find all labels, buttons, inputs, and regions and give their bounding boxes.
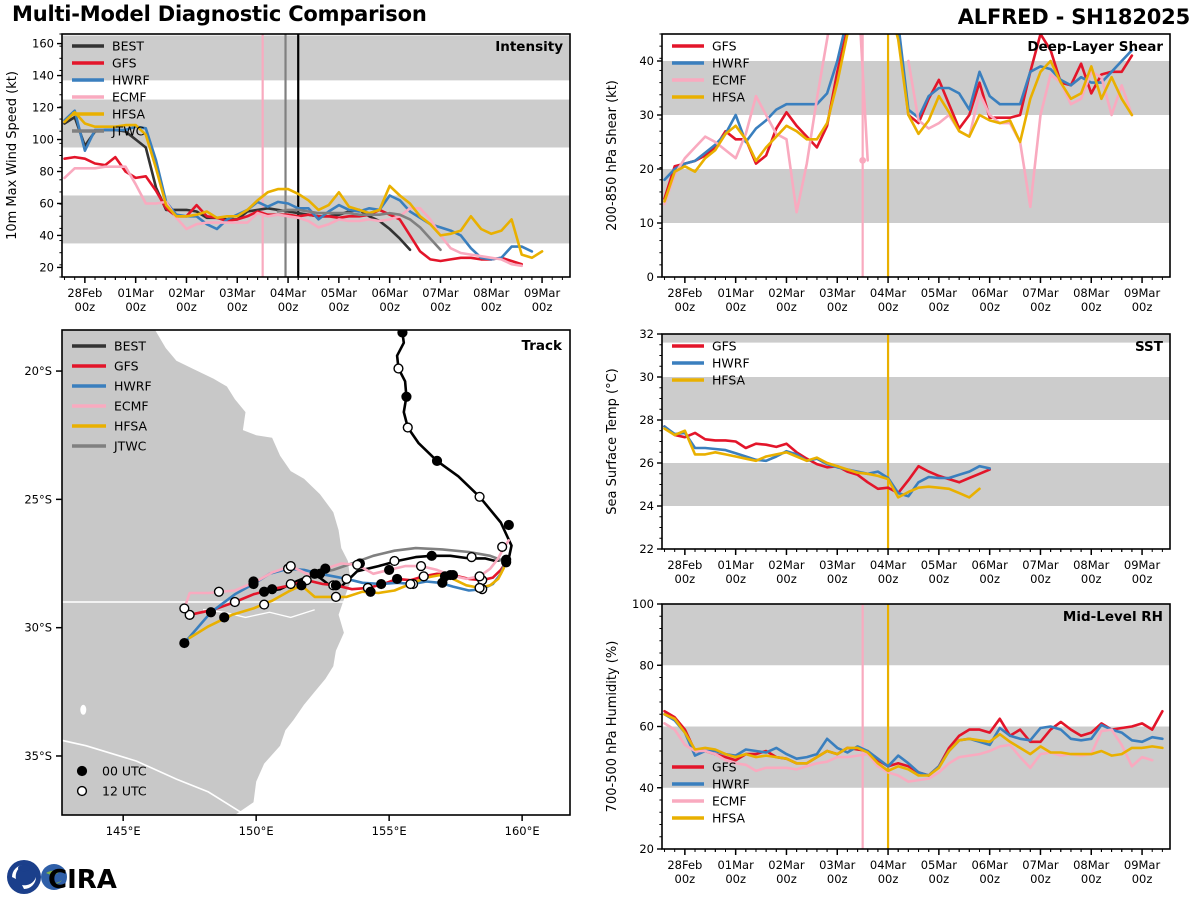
y-tick-label: 30 xyxy=(639,370,654,384)
x-tick-label: 07Mar xyxy=(422,286,459,300)
cira-wordmark: CIRA xyxy=(41,864,117,895)
lon-axis: 145°E150°E155°E160°E xyxy=(106,815,540,838)
x-tick-label: 07Mar xyxy=(1022,858,1059,872)
legend-label-ECMF: ECMF xyxy=(112,90,147,105)
track-marker-00utc xyxy=(332,581,341,590)
x-tick-sublabel: 00z xyxy=(176,300,197,314)
band xyxy=(662,334,1170,343)
x-tick-sublabel: 00z xyxy=(1132,572,1153,586)
x-tick-sublabel: 00z xyxy=(125,300,146,314)
x-axis: 28Feb00z01Mar00z02Mar00z03Mar00z04Mar00z… xyxy=(65,277,563,314)
x-tick-label: 28Feb xyxy=(667,558,702,572)
y-tick-label: 120 xyxy=(32,101,54,115)
x-tick-sublabel: 00z xyxy=(1081,872,1102,886)
x-tick-label: 06Mar xyxy=(971,286,1008,300)
track-marker-00utc xyxy=(393,575,402,584)
x-tick-sublabel: 00z xyxy=(776,300,797,314)
y-axis: 20406080100 xyxy=(632,597,662,856)
y-tick-label: 100 xyxy=(32,133,54,147)
y-tick-label: 100 xyxy=(632,597,654,611)
track-marker-12utc xyxy=(286,562,295,571)
legend-label-HFSA: HFSA xyxy=(712,373,746,388)
x-tick-sublabel: 00z xyxy=(75,300,96,314)
x-tick-sublabel: 00z xyxy=(827,872,848,886)
x-tick-label: 04Mar xyxy=(270,286,307,300)
x-tick-sublabel: 00z xyxy=(1081,300,1102,314)
x-tick-label: 03Mar xyxy=(219,286,256,300)
y-axis: 20406080100120140160 xyxy=(32,34,62,277)
y-axis-label: Sea Surface Temp (°C) xyxy=(605,368,620,515)
y-tick-label: 10 xyxy=(639,216,654,230)
lon-tick-label: 155°E xyxy=(372,824,407,838)
x-axis: 28Feb00z01Mar00z02Mar00z03Mar00z04Mar00z… xyxy=(665,549,1163,586)
legend-label-HWRF: HWRF xyxy=(712,356,750,371)
y-tick-label: 60 xyxy=(39,196,54,210)
x-tick-sublabel: 00z xyxy=(1030,300,1051,314)
track-marker-00utc xyxy=(207,608,216,617)
x-tick-label: 02Mar xyxy=(768,558,805,572)
x-tick-label: 09Mar xyxy=(524,286,561,300)
track-marker-00utc xyxy=(441,572,450,581)
track-marker-12utc xyxy=(286,580,295,589)
track-marker-12utc xyxy=(419,572,428,581)
legend-marker-open xyxy=(78,787,87,796)
y-tick-label: 0 xyxy=(647,270,654,284)
cira-noaa-logo: CIRA xyxy=(4,855,154,900)
track-marker-00utc xyxy=(297,581,306,590)
lon-tick-label: 145°E xyxy=(106,824,141,838)
x-tick-label: 01Mar xyxy=(117,286,154,300)
chart-track: 20°S25°S30°S35°S145°E150°E155°E160°ETrac… xyxy=(0,326,600,866)
track-marker-12utc xyxy=(353,560,362,569)
track-marker-00utc xyxy=(377,580,386,589)
x-tick-sublabel: 00z xyxy=(827,572,848,586)
track-marker-00utc xyxy=(402,392,411,401)
legend-label-BEST: BEST xyxy=(112,39,144,54)
legend-label-HWRF: HWRF xyxy=(712,777,750,792)
y-tick-label: 60 xyxy=(639,720,654,734)
cira-text: CIRA xyxy=(48,865,117,895)
lat-tick-label: 35°S xyxy=(24,749,52,763)
track-marker-12utc xyxy=(475,583,484,592)
x-tick-sublabel: 00z xyxy=(1030,872,1051,886)
x-tick-sublabel: 00z xyxy=(1132,872,1153,886)
panel-tag-intensity: Intensity xyxy=(495,39,563,55)
panel-track: 20°S25°S30°S35°S145°E150°E155°E160°ETrac… xyxy=(0,326,600,866)
legend-label-GFS: GFS xyxy=(712,39,737,54)
legend-label-HFSA: HFSA xyxy=(114,419,148,434)
track-marker-12utc xyxy=(475,492,484,501)
x-tick-label: 01Mar xyxy=(717,558,754,572)
lat-axis: 20°S25°S30°S35°S xyxy=(24,364,62,763)
y-tick-label: 30 xyxy=(639,108,654,122)
legend-label-GFS: GFS xyxy=(114,359,139,374)
x-tick-label: 08Mar xyxy=(1073,558,1110,572)
x-tick-sublabel: 00z xyxy=(430,300,451,314)
x-tick-sublabel: 00z xyxy=(979,872,1000,886)
x-tick-label: 03Mar xyxy=(819,858,856,872)
track-marker-00utc xyxy=(180,639,189,648)
y-tick-label: 22 xyxy=(639,542,654,556)
track-marker-12utc xyxy=(467,553,476,562)
panel-shear: 01020304028Feb00z01Mar00z02Mar00z03Mar00… xyxy=(600,26,1200,326)
lat-tick-label: 20°S xyxy=(24,364,52,378)
x-tick-label: 06Mar xyxy=(971,858,1008,872)
x-tick-sublabel: 00z xyxy=(878,872,899,886)
x-tick-label: 03Mar xyxy=(819,558,856,572)
legend-label-HFSA: HFSA xyxy=(712,811,746,826)
legend-label-ECMF: ECMF xyxy=(712,73,747,88)
track-marker-00utc xyxy=(427,551,436,560)
legend-label-JTWC: JTWC xyxy=(113,439,147,454)
x-tick-sublabel: 00z xyxy=(675,872,696,886)
x-tick-sublabel: 00z xyxy=(827,300,848,314)
y-tick-label: 32 xyxy=(639,327,654,341)
x-tick-label: 05Mar xyxy=(921,286,958,300)
track-marker-00utc xyxy=(249,577,258,586)
y-tick-label: 160 xyxy=(32,37,54,51)
x-tick-sublabel: 00z xyxy=(675,300,696,314)
x-tick-label: 04Mar xyxy=(870,286,907,300)
chart-rh: 2040608010028Feb00z01Mar00z02Mar00z03Mar… xyxy=(600,596,1200,896)
track-marker-12utc xyxy=(406,580,415,589)
x-tick-label: 06Mar xyxy=(971,558,1008,572)
x-tick-sublabel: 00z xyxy=(979,572,1000,586)
track-marker-00utc xyxy=(502,558,511,567)
x-tick-label: 28Feb xyxy=(667,858,702,872)
x-tick-label: 05Mar xyxy=(921,858,958,872)
x-tick-label: 05Mar xyxy=(321,286,358,300)
track-marker-00utc xyxy=(366,587,375,596)
panel-tag-shear: Deep-Layer Shear xyxy=(1027,39,1163,55)
x-tick-sublabel: 00z xyxy=(929,300,950,314)
panel-tag-rh: Mid-Level RH xyxy=(1063,609,1163,625)
track-marker-12utc xyxy=(215,587,224,596)
track-marker-12utc xyxy=(260,600,269,609)
track-marker-00utc xyxy=(504,521,513,530)
legend-label-HFSA: HFSA xyxy=(112,107,146,122)
x-tick-label: 01Mar xyxy=(717,858,754,872)
legend-marker-label: 12 UTC xyxy=(102,784,147,799)
noaa-seagull-icon xyxy=(7,860,41,894)
x-axis: 28Feb00z01Mar00z02Mar00z03Mar00z04Mar00z… xyxy=(665,849,1163,886)
y-tick-label: 20 xyxy=(639,842,654,856)
x-tick-label: 08Mar xyxy=(1073,858,1110,872)
x-tick-sublabel: 00z xyxy=(725,300,746,314)
x-tick-label: 01Mar xyxy=(717,286,754,300)
band xyxy=(62,195,570,243)
x-tick-label: 04Mar xyxy=(870,858,907,872)
legend-label-HFSA: HFSA xyxy=(712,90,746,105)
panel-rh: 2040608010028Feb00z01Mar00z02Mar00z03Mar… xyxy=(600,596,1200,896)
x-tick-label: 04Mar xyxy=(870,558,907,572)
x-tick-sublabel: 00z xyxy=(776,572,797,586)
track-marker-12utc xyxy=(498,542,507,551)
y-tick-label: 40 xyxy=(39,228,54,242)
x-tick-sublabel: 00z xyxy=(1030,572,1051,586)
x-tick-sublabel: 00z xyxy=(979,300,1000,314)
y-axis-label: 10m Max Wind Speed (kt) xyxy=(5,71,20,240)
y-tick-label: 20 xyxy=(39,260,54,274)
track-marker-12utc xyxy=(342,575,351,584)
x-tick-label: 02Mar xyxy=(768,286,805,300)
x-tick-sublabel: 00z xyxy=(532,300,553,314)
lon-tick-label: 160°E xyxy=(505,824,540,838)
x-tick-sublabel: 00z xyxy=(878,572,899,586)
lake-outline xyxy=(80,705,86,715)
x-tick-sublabel: 00z xyxy=(776,872,797,886)
legend-label-GFS: GFS xyxy=(712,760,737,775)
legend-marker-filled xyxy=(78,767,87,776)
legend-label-ECMF: ECMF xyxy=(114,399,149,414)
y-tick-label: 80 xyxy=(639,658,654,672)
chart-intensity: 2040608010012014016028Feb00z01Mar00z02Ma… xyxy=(0,26,600,326)
x-tick-sublabel: 00z xyxy=(725,872,746,886)
legend-label-GFS: GFS xyxy=(112,56,137,71)
x-tick-label: 02Mar xyxy=(168,286,205,300)
y-axis-label: 200-850 hPa Shear (kt) xyxy=(605,80,620,231)
track-marker-12utc xyxy=(417,562,426,571)
x-tick-sublabel: 00z xyxy=(227,300,248,314)
x-tick-sublabel: 00z xyxy=(1132,300,1153,314)
track-marker-12utc xyxy=(403,423,412,432)
x-axis: 28Feb00z01Mar00z02Mar00z03Mar00z04Mar00z… xyxy=(665,277,1163,314)
track-marker-12utc xyxy=(394,364,403,373)
y-axis: 222426283032 xyxy=(639,327,662,556)
marker-ECMF-point xyxy=(859,157,866,164)
x-tick-label: 08Mar xyxy=(1073,286,1110,300)
track-marker-00utc xyxy=(385,566,394,575)
legend-label-JTWC: JTWC xyxy=(111,124,145,139)
panel-tag-sst: SST xyxy=(1135,339,1164,355)
x-tick-label: 07Mar xyxy=(1022,558,1059,572)
x-tick-label: 28Feb xyxy=(67,286,102,300)
x-tick-sublabel: 00z xyxy=(329,300,350,314)
band xyxy=(662,169,1170,223)
x-tick-label: 07Mar xyxy=(1022,286,1059,300)
legend-label-HWRF: HWRF xyxy=(114,379,152,394)
legend-label-HWRF: HWRF xyxy=(112,73,150,88)
x-tick-label: 09Mar xyxy=(1124,286,1161,300)
track-marker-12utc xyxy=(230,598,239,607)
x-tick-label: 05Mar xyxy=(921,558,958,572)
chart-shear: 01020304028Feb00z01Mar00z02Mar00z03Mar00… xyxy=(600,26,1200,326)
x-tick-sublabel: 00z xyxy=(481,300,502,314)
legend-label-HWRF: HWRF xyxy=(712,56,750,71)
panel-sst: 22242628303228Feb00z01Mar00z02Mar00z03Ma… xyxy=(600,326,1200,596)
chart-sst: 22242628303228Feb00z01Mar00z02Mar00z03Ma… xyxy=(600,326,1200,596)
x-tick-sublabel: 00z xyxy=(878,300,899,314)
x-tick-label: 03Mar xyxy=(819,286,856,300)
x-tick-label: 06Mar xyxy=(371,286,408,300)
page-title: Multi-Model Diagnostic Comparison xyxy=(12,2,427,26)
x-tick-sublabel: 00z xyxy=(929,872,950,886)
x-tick-label: 28Feb xyxy=(667,286,702,300)
legend-label-BEST: BEST xyxy=(114,339,146,354)
y-tick-label: 26 xyxy=(639,456,654,470)
x-tick-sublabel: 00z xyxy=(379,300,400,314)
x-tick-label: 02Mar xyxy=(768,858,805,872)
x-tick-label: 08Mar xyxy=(473,286,510,300)
x-tick-label: 09Mar xyxy=(1124,858,1161,872)
x-tick-sublabel: 00z xyxy=(278,300,299,314)
x-tick-label: 09Mar xyxy=(1124,558,1161,572)
y-tick-label: 40 xyxy=(639,54,654,68)
legend-label-ECMF: ECMF xyxy=(712,794,747,809)
track-marker-00utc xyxy=(433,456,442,465)
lat-tick-label: 25°S xyxy=(24,492,52,506)
y-tick-label: 40 xyxy=(639,781,654,795)
track-marker-12utc xyxy=(332,592,341,601)
y-tick-label: 24 xyxy=(639,499,654,513)
y-axis-label: 700-500 hPa Humidity (%) xyxy=(605,641,620,813)
panel-intensity: 2040608010012014016028Feb00z01Mar00z02Ma… xyxy=(0,26,600,326)
lat-tick-label: 30°S xyxy=(24,621,52,635)
panel-tag-track: Track xyxy=(522,338,563,354)
x-tick-sublabel: 00z xyxy=(1081,572,1102,586)
legend-label-GFS: GFS xyxy=(712,339,737,354)
y-axis: 010203040 xyxy=(639,34,662,284)
track-marker-00utc xyxy=(220,613,229,622)
legend-marker-label: 00 UTC xyxy=(102,764,147,779)
track-marker-12utc xyxy=(475,572,484,581)
track-marker-00utc xyxy=(268,585,277,594)
track-marker-12utc xyxy=(390,557,399,566)
y-tick-label: 140 xyxy=(32,69,54,83)
track-marker-00utc xyxy=(321,564,330,573)
lon-tick-label: 150°E xyxy=(239,824,274,838)
y-tick-label: 80 xyxy=(39,164,54,178)
y-tick-label: 20 xyxy=(639,162,654,176)
x-tick-sublabel: 00z xyxy=(929,572,950,586)
track-marker-12utc xyxy=(180,604,189,613)
x-tick-sublabel: 00z xyxy=(725,572,746,586)
x-tick-sublabel: 00z xyxy=(675,572,696,586)
y-tick-label: 28 xyxy=(639,413,654,427)
